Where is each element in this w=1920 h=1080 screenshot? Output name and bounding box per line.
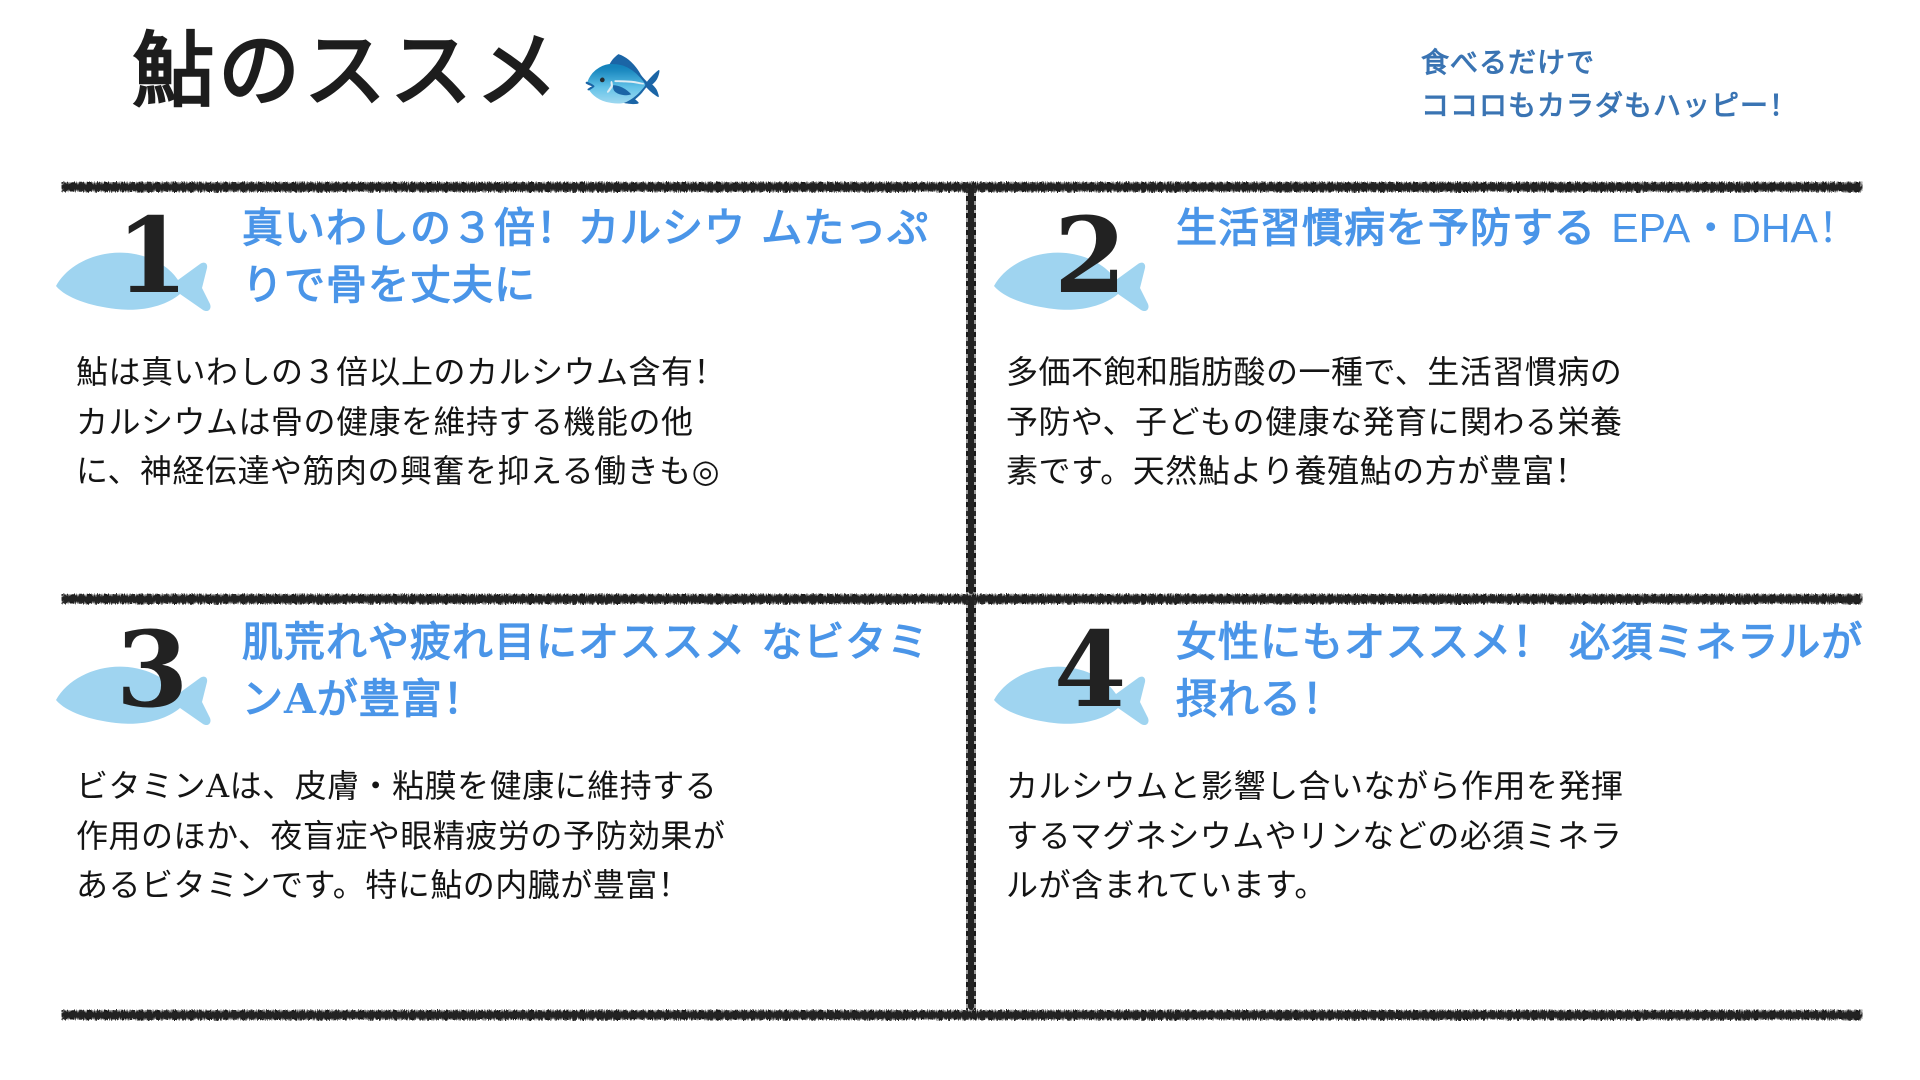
panel-2-number: 2 xyxy=(1054,204,1126,308)
divider-middle xyxy=(62,596,1862,602)
panel-3-body-line-2: 作用のほか、夜盲症や眼精疲労の予防効果が xyxy=(76,812,942,862)
panel-3-body-line-1: ビタミンAは、皮膚・粘膜を健康に維持する xyxy=(76,762,942,812)
panel-2-heading-line-1: 生活習慣病を予防する xyxy=(1176,204,1596,252)
panel-3-body: ビタミンAは、皮膚・粘膜を健康に維持する 作用のほか、夜盲症や眼精疲労の予防効果… xyxy=(76,762,942,911)
panel-2-body-line-3: 素です。天然鮎より養殖鮎の方が豊富！ xyxy=(1006,447,1880,497)
panel-4-badge: 4 xyxy=(1000,618,1170,746)
panel-1-head: 1 真いわしの３倍！カルシウ ムたっぷりで骨を丈夫に xyxy=(62,196,942,336)
panel-1-number: 1 xyxy=(116,204,188,308)
panel-3-head: 3 肌荒れや疲れ目にオススメ なビタミンAが豊富！ xyxy=(62,610,942,750)
panel-1: 1 真いわしの３倍！カルシウ ムたっぷりで骨を丈夫に 鮎は真いわしの３倍以上のカ… xyxy=(62,196,942,497)
panel-4-heading-line-1: 女性にもオススメ！ xyxy=(1176,618,1554,666)
panel-4-body-line-3: ルが含まれています。 xyxy=(1006,861,1880,911)
tagline-line-2: ココロもカラダもハッピー！ xyxy=(1421,85,1798,128)
panel-1-heading-line-1: 真いわしの３倍！カルシウ xyxy=(242,204,746,252)
panel-2-badge: 2 xyxy=(1000,204,1170,332)
panel-1-heading: 真いわしの３倍！カルシウ ムたっぷりで骨を丈夫に xyxy=(242,196,942,315)
infographic-page: 鮎のススメ 🐟 食べるだけで ココロもカラダもハッピー！ 1 真いわしの３倍！カ… xyxy=(0,0,1920,1080)
panel-3-heading: 肌荒れや疲れ目にオススメ なビタミンAが豊富！ xyxy=(242,610,942,729)
tagline: 食べるだけで ココロもカラダもハッピー！ xyxy=(1421,42,1798,127)
panel-2-head: 2 生活習慣病を予防する EPA・DHA！ xyxy=(1000,196,1880,336)
page-title: 鮎のススメ xyxy=(132,26,562,116)
divider-top xyxy=(62,184,1862,190)
panel-2: 2 生活習慣病を予防する EPA・DHA！ 多価不飽和脂肪酸の一種で、生活習慣病… xyxy=(1000,196,1880,497)
panel-2-body: 多価不飽和脂肪酸の一種で、生活習慣病の 予防や、子どもの健康な発育に関わる栄養 … xyxy=(1006,348,1880,497)
panel-4-body: カルシウムと影響し合いながら作用を発揮 するマグネシウムやリンなどの必須ミネラ … xyxy=(1006,762,1880,911)
panel-4-number: 4 xyxy=(1054,618,1126,722)
panel-4-heading: 女性にもオススメ！ 必須ミネラルが摂れる！ xyxy=(1176,610,1880,729)
fish-emoji-icon: 🐟 xyxy=(580,43,665,111)
tagline-line-1: 食べるだけで xyxy=(1421,42,1798,85)
panel-1-body-line-2: カルシウムは骨の健康を維持する機能の他 xyxy=(76,398,942,448)
panel-3-number: 3 xyxy=(116,618,188,722)
panel-1-body-line-1: 鮎は真いわしの３倍以上のカルシウム含有！ xyxy=(76,348,942,398)
title-block: 鮎のススメ 🐟 xyxy=(132,26,665,116)
panel-3-heading-line-1: 肌荒れや疲れ目にオススメ xyxy=(242,618,746,666)
panel-3-badge: 3 xyxy=(62,618,232,746)
header: 鮎のススメ 🐟 食べるだけで ココロもカラダもハッピー！ xyxy=(0,0,1920,188)
panel-1-badge: 1 xyxy=(62,204,232,332)
panel-4-body-line-1: カルシウムと影響し合いながら作用を発揮 xyxy=(1006,762,1880,812)
panel-4-head: 4 女性にもオススメ！ 必須ミネラルが摂れる！ xyxy=(1000,610,1880,750)
panel-4-body-line-2: するマグネシウムやリンなどの必須ミネラ xyxy=(1006,812,1880,862)
panel-4: 4 女性にもオススメ！ 必須ミネラルが摂れる！ カルシウムと影響し合いながら作用… xyxy=(1000,610,1880,911)
panel-2-body-line-1: 多価不飽和脂肪酸の一種で、生活習慣病の xyxy=(1006,348,1880,398)
panel-1-body: 鮎は真いわしの３倍以上のカルシウム含有！ カルシウムは骨の健康を維持する機能の他… xyxy=(76,348,942,497)
panel-2-heading-line-2: EPA・DHA！ xyxy=(1611,205,1859,251)
divider-vertical-bottom xyxy=(968,600,974,1010)
divider-bottom xyxy=(62,1012,1862,1018)
panel-3-body-line-3: あるビタミンです。特に鮎の内臓が豊富！ xyxy=(76,861,942,911)
divider-vertical-top xyxy=(968,188,974,594)
panel-3: 3 肌荒れや疲れ目にオススメ なビタミンAが豊富！ ビタミンAは、皮膚・粘膜を健… xyxy=(62,610,942,911)
panel-2-body-line-2: 予防や、子どもの健康な発育に関わる栄養 xyxy=(1006,398,1880,448)
panel-2-heading: 生活習慣病を予防する EPA・DHA！ xyxy=(1176,196,1880,257)
panel-1-body-line-3: に、神経伝達や筋肉の興奮を抑える働きも◎ xyxy=(76,447,942,497)
